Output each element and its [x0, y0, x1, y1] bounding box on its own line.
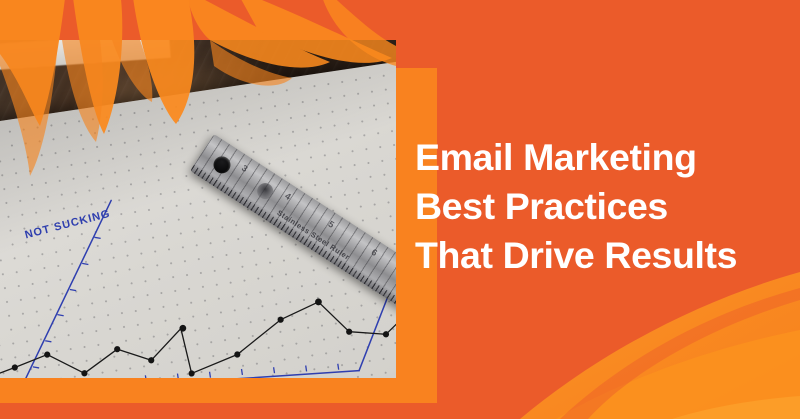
- headline: Email Marketing Best Practices That Driv…: [415, 133, 790, 280]
- headline-line-2: Best Practices: [415, 182, 790, 231]
- headline-line-1: Email Marketing: [415, 133, 790, 182]
- email-marketing-banner: NOT SUCKING PAST THE FUTURE 3 4 5 6 Stai…: [0, 0, 800, 419]
- headline-line-3: That Drive Results: [415, 231, 790, 280]
